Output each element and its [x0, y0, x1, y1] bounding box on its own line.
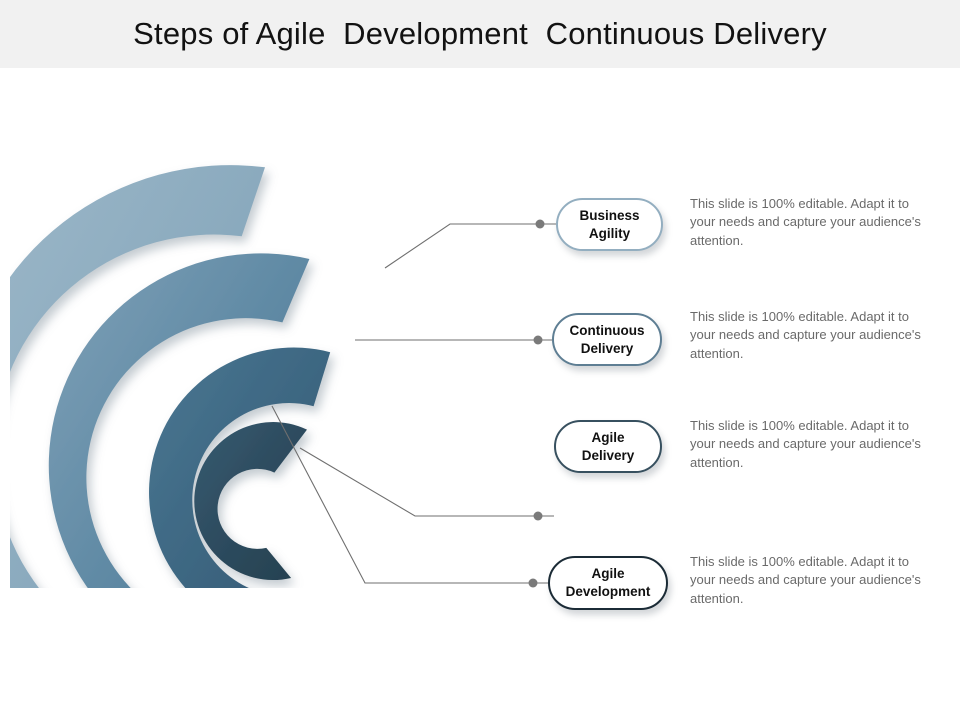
- step-label: Agile Development: [566, 565, 651, 601]
- page-title: Steps of Agile Development Continuous De…: [0, 0, 960, 68]
- step-description-agile-development: This slide is 100% editable. Adapt it to…: [690, 553, 930, 608]
- slide-canvas: Business Agility Continuous Delivery Agi…: [0, 68, 960, 720]
- concentric-arcs-graphic: [10, 148, 450, 588]
- step-pill-business-agility[interactable]: Business Agility: [556, 198, 663, 251]
- step-pill-continuous-delivery[interactable]: Continuous Delivery: [552, 313, 662, 366]
- arc-ring-4: [194, 422, 307, 580]
- connector-dot-4: [529, 579, 538, 588]
- step-label: Continuous Delivery: [570, 322, 645, 358]
- connector-dot-1: [536, 220, 545, 229]
- step-label: Business Agility: [579, 207, 639, 243]
- step-pill-agile-delivery[interactable]: Agile Delivery: [554, 420, 662, 473]
- step-label: Agile Delivery: [582, 429, 635, 465]
- step-description-continuous-delivery: This slide is 100% editable. Adapt it to…: [690, 308, 930, 363]
- step-pill-agile-development[interactable]: Agile Development: [548, 556, 668, 610]
- connector-dot-3: [534, 512, 543, 521]
- step-description-agile-delivery: This slide is 100% editable. Adapt it to…: [690, 417, 930, 472]
- connector-dot-2: [534, 336, 543, 345]
- step-description-business-agility: This slide is 100% editable. Adapt it to…: [690, 195, 930, 250]
